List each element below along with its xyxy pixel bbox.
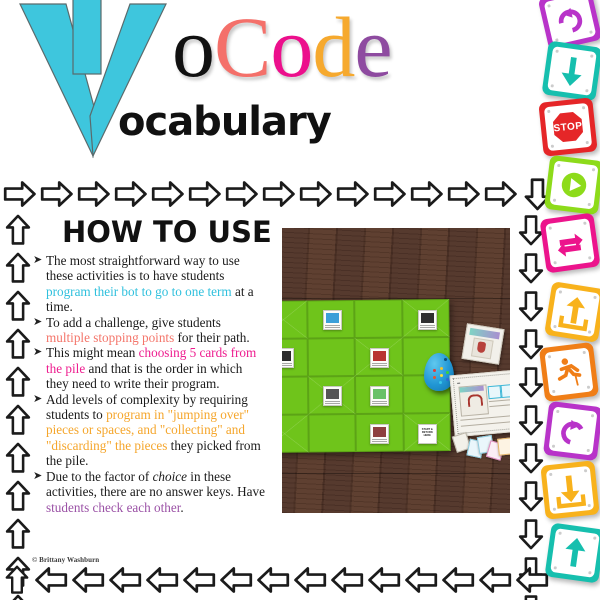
arrow-up-icon bbox=[2, 252, 34, 289]
undo-icon bbox=[553, 411, 593, 451]
arrow-up-icon bbox=[2, 442, 34, 479]
mat-tile-crease bbox=[282, 414, 308, 452]
poster-header: oCode ocabulary bbox=[0, 0, 545, 175]
picture-card-label bbox=[325, 400, 340, 404]
arrow-right-icon bbox=[2, 177, 37, 216]
arrow-up-icon bbox=[2, 290, 34, 327]
arrow-right-icon bbox=[483, 177, 518, 216]
arrow-right-icon bbox=[335, 177, 370, 216]
arrow-left-icon bbox=[404, 563, 439, 600]
jump-icon bbox=[549, 352, 589, 392]
vocabulary-term-card bbox=[461, 323, 504, 365]
arrow-down-icon bbox=[515, 290, 547, 327]
arrow-border-right bbox=[515, 214, 547, 564]
arrow-right-icon bbox=[261, 177, 296, 216]
arrow-up-icon bbox=[2, 214, 34, 251]
bullet-marker-icon: ➤ bbox=[33, 344, 42, 359]
arrow-left-icon bbox=[108, 563, 143, 600]
bullet-text-segment: students check each other bbox=[46, 500, 180, 515]
stop-sign-card: STOP bbox=[538, 97, 597, 156]
bullet-text-segment: for their path. bbox=[174, 330, 249, 345]
speakers-card bbox=[282, 348, 294, 368]
loop-repeat-card bbox=[540, 213, 600, 274]
picture-card-label bbox=[325, 324, 340, 328]
mat-tile bbox=[308, 414, 356, 452]
arrow-down-bar-icon bbox=[550, 470, 590, 510]
coding-mat-photo: START & RETURN HERE bbox=[282, 228, 510, 513]
arrow-border-left bbox=[2, 214, 34, 564]
arrow-right-icon bbox=[113, 177, 148, 216]
arrow-up-icon bbox=[2, 366, 34, 403]
arrow-left-icon bbox=[34, 563, 69, 600]
picture-card-label bbox=[372, 438, 387, 442]
arrow-up-icon bbox=[2, 480, 34, 517]
bullet-text-segment: choice bbox=[153, 469, 187, 484]
keyboard-card bbox=[418, 310, 437, 330]
arrow-right-icon bbox=[224, 177, 259, 216]
arrow-down-bar-card bbox=[540, 460, 599, 519]
title-letter-2: o bbox=[270, 4, 312, 90]
start-card-label: START & RETURN HERE bbox=[420, 428, 435, 438]
arrow-down-icon bbox=[515, 518, 547, 555]
mouse-card bbox=[370, 424, 389, 444]
arrow-right-icon bbox=[446, 177, 481, 216]
bullet-text-segment: Due to the factor of bbox=[46, 469, 153, 484]
arrow-right-icon bbox=[39, 177, 74, 216]
subtitle: ocabulary bbox=[118, 100, 331, 144]
instruction-bullet: ➤The most straightforward way to use the… bbox=[33, 253, 268, 315]
instruction-bullet: ➤To add a challenge, give students multi… bbox=[33, 315, 268, 346]
arrow-left-icon bbox=[367, 563, 402, 600]
arrow-down-icon bbox=[552, 51, 593, 92]
bullet-marker-icon: ➤ bbox=[33, 391, 42, 406]
monitor-card bbox=[323, 310, 342, 330]
mat-tile bbox=[307, 338, 355, 376]
start-return-card: START & RETURN HERE bbox=[418, 424, 437, 444]
arrow-right-icon bbox=[187, 177, 222, 216]
bot-button bbox=[440, 374, 443, 377]
picture-card-label bbox=[372, 362, 387, 366]
bullet-text-segment: To add a challenge, give students bbox=[46, 315, 221, 330]
bullet-text-segment: This might mean bbox=[46, 345, 139, 360]
title-letter-4: e bbox=[354, 4, 391, 90]
arrow-up-icon bbox=[2, 404, 34, 441]
title-letter-0: o bbox=[172, 4, 214, 90]
headphones-card bbox=[370, 348, 389, 368]
instruction-bullet: ➤This might mean choosing 5 cards from t… bbox=[33, 345, 268, 391]
arrow-right-icon bbox=[150, 177, 185, 216]
arrow-down-card bbox=[542, 41, 600, 102]
mat-tile bbox=[282, 376, 308, 414]
arrow-right-icon bbox=[409, 177, 444, 216]
poster-page: oCode ocabulary HOW TO USE ➤The most str… bbox=[0, 0, 600, 600]
bot-button bbox=[433, 376, 436, 379]
arrow-border-bottom bbox=[2, 562, 558, 600]
mat-tile bbox=[354, 300, 402, 338]
arrow-left-icon bbox=[145, 563, 180, 600]
arrow-left-icon bbox=[182, 563, 217, 600]
arrow-left-icon bbox=[330, 563, 365, 600]
arrow-left-icon bbox=[71, 563, 106, 600]
loop-icon bbox=[550, 223, 591, 264]
v-arrow-logo-icon bbox=[18, 0, 168, 176]
copyright-notice: © Brittany Washburn bbox=[32, 556, 99, 564]
bullet-text-segment: The most straightforward way to use thes… bbox=[46, 253, 240, 283]
bot-button bbox=[439, 381, 442, 384]
mat-tile-crease bbox=[282, 301, 307, 339]
arrow-right-icon bbox=[76, 177, 111, 216]
usb-drive-card bbox=[370, 386, 389, 406]
undo-arrow-card bbox=[543, 401, 600, 461]
jump-over-card bbox=[539, 342, 599, 402]
arrow-down-icon bbox=[515, 252, 547, 289]
bullet-text-segment: program their bot to go to one term bbox=[46, 284, 232, 299]
arrow-up-card bbox=[545, 523, 600, 584]
page-title: oCode bbox=[172, 4, 392, 90]
bot-button bbox=[440, 367, 443, 370]
title-letter-1: C bbox=[214, 4, 270, 90]
picture-card-label bbox=[420, 324, 435, 328]
arrow-right-icon bbox=[298, 177, 333, 216]
arrow-up-icon bbox=[2, 328, 34, 365]
arrow-up-icon bbox=[2, 518, 34, 555]
bot-button bbox=[446, 371, 449, 374]
play-button-card bbox=[544, 155, 600, 215]
bot-sensor-eye bbox=[444, 358, 447, 361]
bullet-marker-icon: ➤ bbox=[33, 252, 42, 267]
bot-button bbox=[433, 369, 436, 372]
bullet-text-segment: . bbox=[180, 500, 183, 515]
instruction-bullet: ➤Add levels of complexity by requiring s… bbox=[33, 392, 268, 469]
arrow-up-icon bbox=[555, 533, 596, 574]
arrow-left-icon bbox=[478, 563, 513, 600]
bullet-text-segment: multiple stopping points bbox=[46, 330, 174, 345]
arrow-up-bar-card bbox=[544, 281, 600, 343]
instruction-list: ➤The most straightforward way to use the… bbox=[33, 253, 268, 515]
student-worksheet bbox=[449, 369, 510, 438]
section-heading: HOW TO USE bbox=[62, 216, 272, 248]
printer-card bbox=[323, 386, 342, 406]
bullet-marker-icon: ➤ bbox=[33, 468, 42, 483]
code-card-pile-5 bbox=[497, 437, 510, 455]
arrow-left-icon bbox=[441, 563, 476, 600]
arrow-up-bar-icon bbox=[554, 291, 595, 332]
picture-card-label bbox=[372, 400, 387, 404]
bullet-marker-icon: ➤ bbox=[33, 314, 42, 329]
arrow-left-icon bbox=[219, 563, 254, 600]
play-icon bbox=[554, 165, 594, 205]
arrow-left-icon bbox=[293, 563, 328, 600]
arrow-right-icon bbox=[372, 177, 407, 216]
arrow-down-icon bbox=[515, 404, 547, 441]
title-letter-3: d bbox=[312, 4, 354, 90]
instruction-bullet: ➤Due to the factor of choice in these ac… bbox=[33, 469, 268, 515]
picture-card-label bbox=[282, 362, 292, 366]
arrow-left-icon bbox=[256, 563, 291, 600]
arrow-up-icon bbox=[2, 563, 32, 600]
arrow-border-top bbox=[2, 176, 558, 216]
